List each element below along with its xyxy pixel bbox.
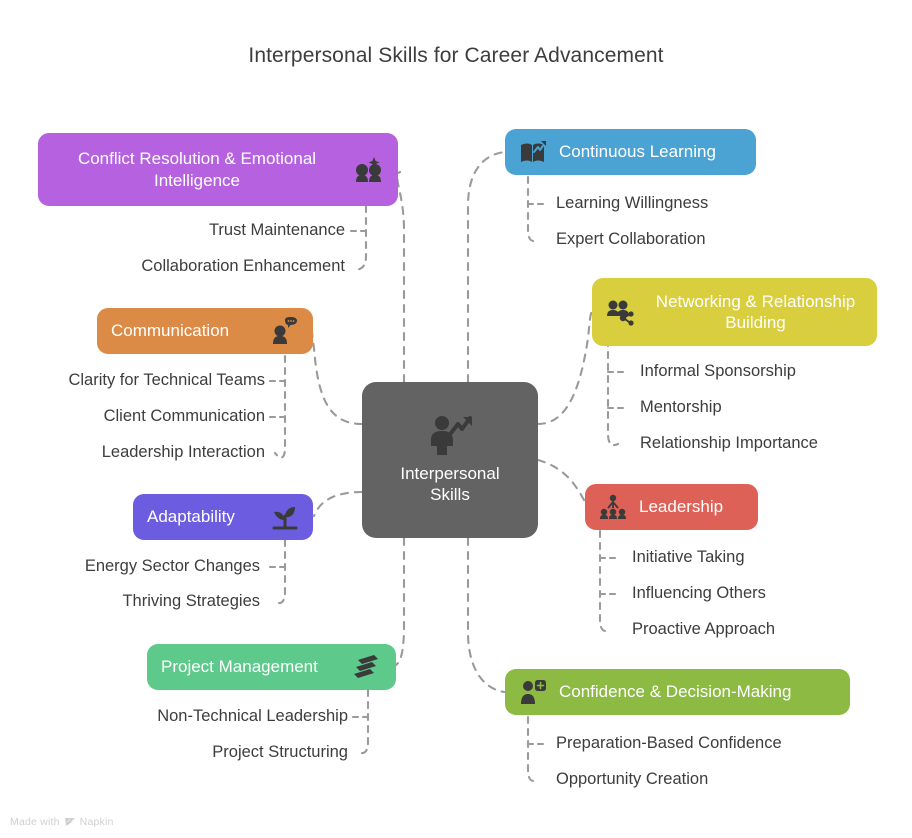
org-chart-icon — [599, 494, 627, 520]
sub-item-label: Opportunity Creation — [556, 770, 708, 788]
sub-item-preparation-based-confidence: Preparation-Based Confidence — [556, 734, 782, 753]
sub-item-label: Initiative Taking — [632, 548, 745, 566]
page-title: Interpersonal Skills for Career Advancem… — [0, 44, 912, 68]
sub-item-trust-maintenance: Trust Maintenance — [20, 221, 345, 240]
two-people-sparkle-icon — [354, 156, 384, 184]
person-speech-bubble-icon — [271, 317, 299, 345]
sub-item-project-structuring: Project Structuring — [20, 743, 348, 762]
sub-item-clarity-for-technical-teams: Clarity for Technical Teams — [10, 371, 265, 390]
sub-item-label: Thriving Strategies — [122, 592, 260, 610]
stacked-layers-icon — [352, 653, 382, 681]
sub-item-leadership-interaction: Leadership Interaction — [10, 443, 265, 462]
sub-item-label: Influencing Others — [632, 584, 766, 602]
sub-item-label: Proactive Approach — [632, 620, 775, 638]
branch-node-leadership[interactable]: Leadership — [585, 484, 758, 530]
sub-item-label: Collaboration Enhancement — [141, 257, 345, 275]
sub-item-learning-willingness: Learning Willingness — [556, 194, 708, 213]
sub-item-influencing-others: Influencing Others — [632, 584, 766, 603]
sub-item-label: Non-Technical Leadership — [157, 707, 348, 725]
branch-node-conflict-resolution[interactable]: Conflict Resolution & Emotional Intellig… — [38, 133, 398, 206]
center-node-label-line1: Interpersonal — [400, 463, 499, 484]
sub-item-label: Project Structuring — [212, 743, 348, 761]
sub-item-initiative-taking: Initiative Taking — [632, 548, 745, 567]
branch-label-networking: Networking & Relationship Building — [648, 291, 863, 334]
branch-label-adaptability: Adaptability — [147, 506, 259, 527]
sub-item-label: Clarity for Technical Teams — [68, 371, 265, 389]
person-decision-icon — [519, 679, 547, 705]
sub-item-label: Mentorship — [640, 398, 722, 416]
sub-item-expert-collaboration: Expert Collaboration — [556, 230, 706, 249]
sub-item-label: Expert Collaboration — [556, 230, 706, 248]
sub-item-client-communication: Client Communication — [10, 407, 265, 426]
sub-item-label: Learning Willingness — [556, 194, 708, 212]
sub-item-relationship-importance: Relationship Importance — [640, 434, 818, 453]
sub-item-energy-sector-changes: Energy Sector Changes — [20, 557, 260, 576]
people-network-icon — [606, 298, 636, 326]
sub-item-opportunity-creation: Opportunity Creation — [556, 770, 708, 789]
napkin-watermark: Made with Napkin — [10, 816, 114, 828]
branch-node-adaptability[interactable]: Adaptability — [133, 494, 313, 540]
branch-node-networking[interactable]: Networking & Relationship Building — [592, 278, 877, 346]
person-growth-icon — [427, 415, 473, 455]
branch-label-communication: Communication — [111, 320, 259, 341]
sub-item-thriving-strategies: Thriving Strategies — [20, 592, 260, 611]
branch-label-leadership: Leadership — [639, 496, 744, 517]
sub-item-label: Relationship Importance — [640, 434, 818, 452]
book-chart-icon — [519, 139, 547, 165]
center-node-label-line2: Skills — [430, 484, 470, 505]
sub-item-label: Informal Sponsorship — [640, 362, 796, 380]
sub-item-proactive-approach: Proactive Approach — [632, 620, 775, 639]
branch-node-confidence[interactable]: Confidence & Decision-Making — [505, 669, 850, 715]
sprout-growth-icon — [271, 504, 299, 530]
napkin-logo-icon — [64, 817, 76, 827]
sub-item-label: Preparation-Based Confidence — [556, 734, 782, 752]
center-node[interactable]: Interpersonal Skills — [362, 382, 538, 538]
branch-label-conflict-resolution: Conflict Resolution & Emotional Intellig… — [52, 148, 342, 191]
sub-item-collaboration-enhancement: Collaboration Enhancement — [20, 257, 345, 276]
branch-node-communication[interactable]: Communication — [97, 308, 313, 354]
branch-label-continuous-learning: Continuous Learning — [559, 141, 742, 162]
sub-item-label: Leadership Interaction — [102, 443, 265, 461]
watermark-brand: Napkin — [80, 816, 114, 828]
sub-item-non-technical-leadership: Non-Technical Leadership — [20, 707, 348, 726]
sub-item-label: Client Communication — [104, 407, 265, 425]
sub-item-mentorship: Mentorship — [640, 398, 722, 417]
sub-item-label: Trust Maintenance — [209, 221, 345, 239]
mindmap-canvas: Interpersonal Skills for Career Advancem… — [0, 0, 912, 838]
sub-item-label: Energy Sector Changes — [85, 557, 260, 575]
branch-node-continuous-learning[interactable]: Continuous Learning — [505, 129, 756, 175]
branch-node-project-management[interactable]: Project Management — [147, 644, 396, 690]
sub-item-informal-sponsorship: Informal Sponsorship — [640, 362, 796, 381]
watermark-prefix: Made with — [10, 816, 60, 828]
branch-label-confidence: Confidence & Decision-Making — [559, 681, 836, 702]
branch-label-project-management: Project Management — [161, 656, 340, 677]
